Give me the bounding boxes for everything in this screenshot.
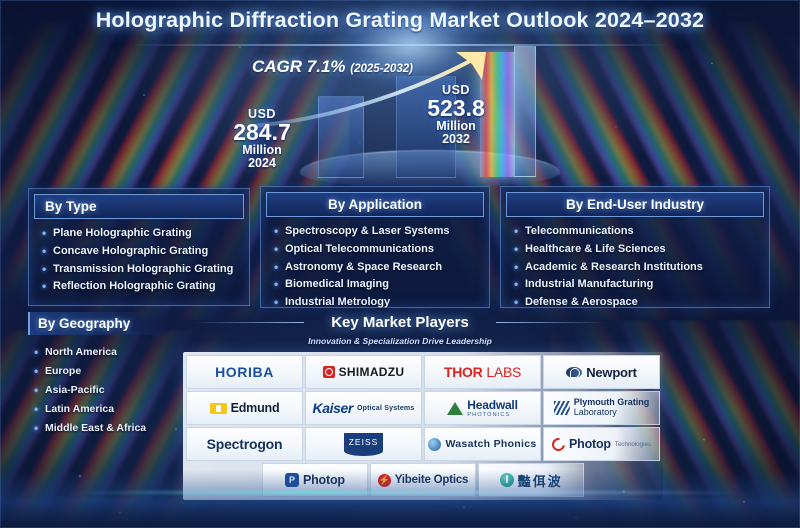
logo-spectrogon-text: Spectrogon [207,436,283,452]
logo-newport[interactable]: Newport [543,355,660,389]
logo-thorlabs-text: THOR [444,364,482,380]
logo-wasatch-phonics[interactable]: Wasatch Phonics [424,427,541,461]
cagr-value: 7.1% [307,57,346,76]
title-divider [130,44,670,46]
logo-plymouth-text: Plymouth Grating [574,397,650,407]
list-item: Reflection Holographic Grating [40,278,240,296]
panel-by-type-list: Plane Holographic Grating Concave Hologr… [40,225,240,296]
panel-by-type: By Type Plane Holographic Grating Concav… [28,188,250,306]
kpi-start-year: USD 284.7 Million 2024 [212,108,312,170]
key-market-players-header: Key Market Players Innovation & Speciali… [24,310,776,342]
list-item: Latin America [32,400,166,419]
logo-shimadzu[interactable]: SHIMADZU [305,355,422,389]
list-item: Optical Telecommunications [272,241,480,259]
list-item: Astronomy & Space Research [272,259,480,277]
key-market-players-title: Key Market Players [24,314,776,331]
logo-kaiser-text: Kaiser [313,400,353,416]
list-item: Biomedical Imaging [272,276,480,294]
logo-photop-subtext: Technologies [615,441,651,448]
headwall-mark-icon [447,402,463,415]
logo-row: Spectrogon ZEISS Wasatch Phonics Photop … [186,427,660,461]
logo-row: HORIBA SHIMADZU THORLABS Newport [186,355,660,389]
plymouth-mark-icon [554,401,570,415]
kpi-start-value: 284.7 [212,121,312,144]
kpi-end-year: USD 523.8 Million 2032 [404,84,508,146]
key-market-players-subtitle: Innovation & Specialization Drive Leader… [24,336,776,346]
infographic-canvas: Holographic Diffraction Grating Market O… [0,0,800,528]
shimadzu-mark-icon [323,366,335,378]
list-item: Concave Holographic Grating [40,243,240,261]
logo-thorlabs[interactable]: THORLABS [424,355,541,389]
logo-shimadzu-text: SHIMADZU [339,365,405,379]
logo-zeiss-text: ZEISS [344,433,384,456]
panel-by-geography-list: North America Europe Asia-Pacific Latin … [32,343,166,437]
panel-by-end-user-list: Telecommunications Healthcare & Life Sci… [512,223,760,312]
newport-mark-icon [566,367,582,378]
list-item: Industrial Manufacturing [512,276,760,294]
kpi-end-year-label: 2032 [404,133,508,146]
cagr-callout: CAGR 7.1% (2025-2032) [252,57,413,77]
logo-wasatch-text: Wasatch Phonics [445,438,536,450]
logo-plymouth-subtext: Laboratory [574,407,617,417]
list-item: Europe [32,362,166,381]
logo-horiba-text: HORIBA [215,364,274,380]
panel-by-end-user-industry: By End-User Industry Telecommunications … [500,186,770,308]
list-item: Healthcare & Life Sciences [512,241,760,259]
prism-tower-side [514,46,536,177]
bottom-glow [0,470,800,528]
edmund-mark-icon [210,403,227,414]
logo-kaiser-subtext: Optical Systems [357,405,414,412]
cagr-period: (2025-2032) [350,63,413,75]
logo-plymouth-grating-laboratory[interactable]: Plymouth Grating Laboratory [543,391,660,425]
list-item: Spectroscopy & Laser Systems [272,223,480,241]
logo-row: Edmund Kaiser Optical Systems Headwall P… [186,391,660,425]
list-item: Telecommunications [512,223,760,241]
list-item: Academic & Research Institutions [512,259,760,277]
logo-edmund-text: Edmund [231,401,280,415]
logo-zeiss[interactable]: ZEISS [305,427,422,461]
logo-photop-text: Photop [569,437,611,451]
logo-headwall[interactable]: Headwall PHOTONICS [424,391,541,425]
wasatch-mark-icon [428,438,441,451]
logo-plymouth-text-block: Plymouth Grating Laboratory [574,398,650,417]
teal-light-streak [80,491,740,494]
photop-circle-icon [549,435,567,453]
kpi-start-year-label: 2024 [212,157,312,170]
panel-by-application-list: Spectroscopy & Laser Systems Optical Tel… [272,223,480,312]
logo-kaiser[interactable]: Kaiser Optical Systems [305,391,422,425]
logo-horiba[interactable]: HORIBA [186,355,303,389]
list-item: Asia-Pacific [32,381,166,400]
logo-newport-text: Newport [586,365,637,380]
panel-by-end-user-heading: By End-User Industry [506,192,764,217]
page-title: Holographic Diffraction Grating Market O… [0,8,800,33]
cagr-label: CAGR [252,57,302,76]
kpi-end-value: 523.8 [404,97,508,120]
logo-headwall-subtext: PHOTONICS [467,412,510,418]
panel-by-application: By Application Spectroscopy & Laser Syst… [260,186,490,308]
list-item: Transmission Holographic Grating [40,261,240,279]
logo-thorlabs-suffix: LABS [486,364,521,380]
logo-headwall-text: Headwall [467,398,517,412]
panel-by-application-heading: By Application [266,192,484,217]
logo-edmund[interactable]: Edmund [186,391,303,425]
list-item: Middle East & Africa [32,419,166,438]
logo-spectrogon[interactable]: Spectrogon [186,427,303,461]
logo-photop-technologies[interactable]: Photop Technologies [543,427,660,461]
list-item: Plane Holographic Grating [40,225,240,243]
panel-by-type-heading: By Type [34,194,244,219]
